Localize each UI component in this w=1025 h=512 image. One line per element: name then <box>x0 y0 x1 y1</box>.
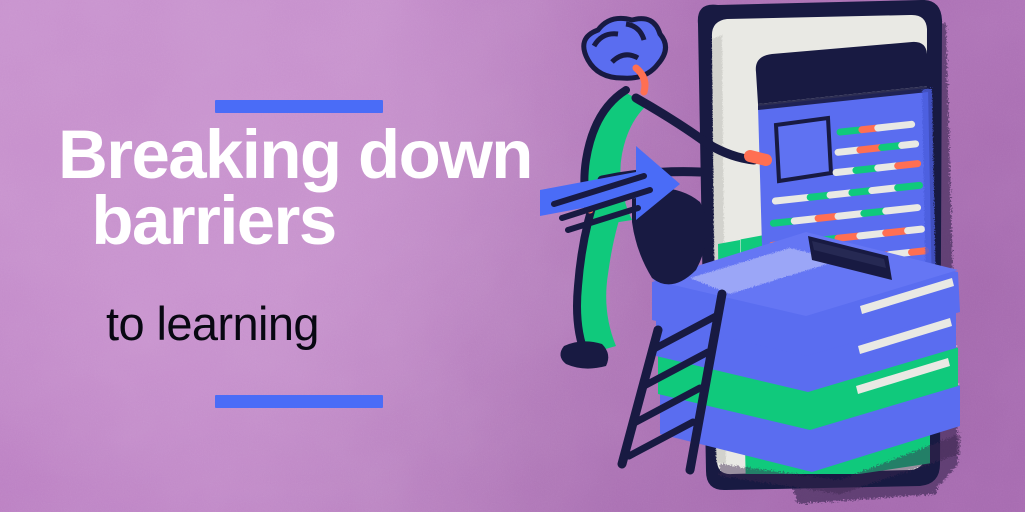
accent-bar-top <box>215 100 383 113</box>
text-block: Breaking down barriers to learning <box>0 0 560 512</box>
headline-line-2: barriers <box>0 188 545 254</box>
person-face-accent <box>636 68 645 92</box>
subtitle: to learning <box>0 296 545 351</box>
hero-banner: Breaking down barriers to learning <box>0 0 1025 512</box>
page-title: Breaking down barriers <box>0 122 545 254</box>
tablet-screen-thumbnail <box>776 118 831 181</box>
headline-line-1: Breaking down <box>0 122 545 188</box>
person-foot <box>560 341 608 368</box>
illustration-person-climbing-ladder-of-books-toward-tablet <box>540 0 1025 512</box>
person-hair <box>584 18 666 78</box>
person-hand <box>750 156 766 160</box>
accent-bar-bottom <box>215 395 383 408</box>
book-stack <box>652 232 960 494</box>
